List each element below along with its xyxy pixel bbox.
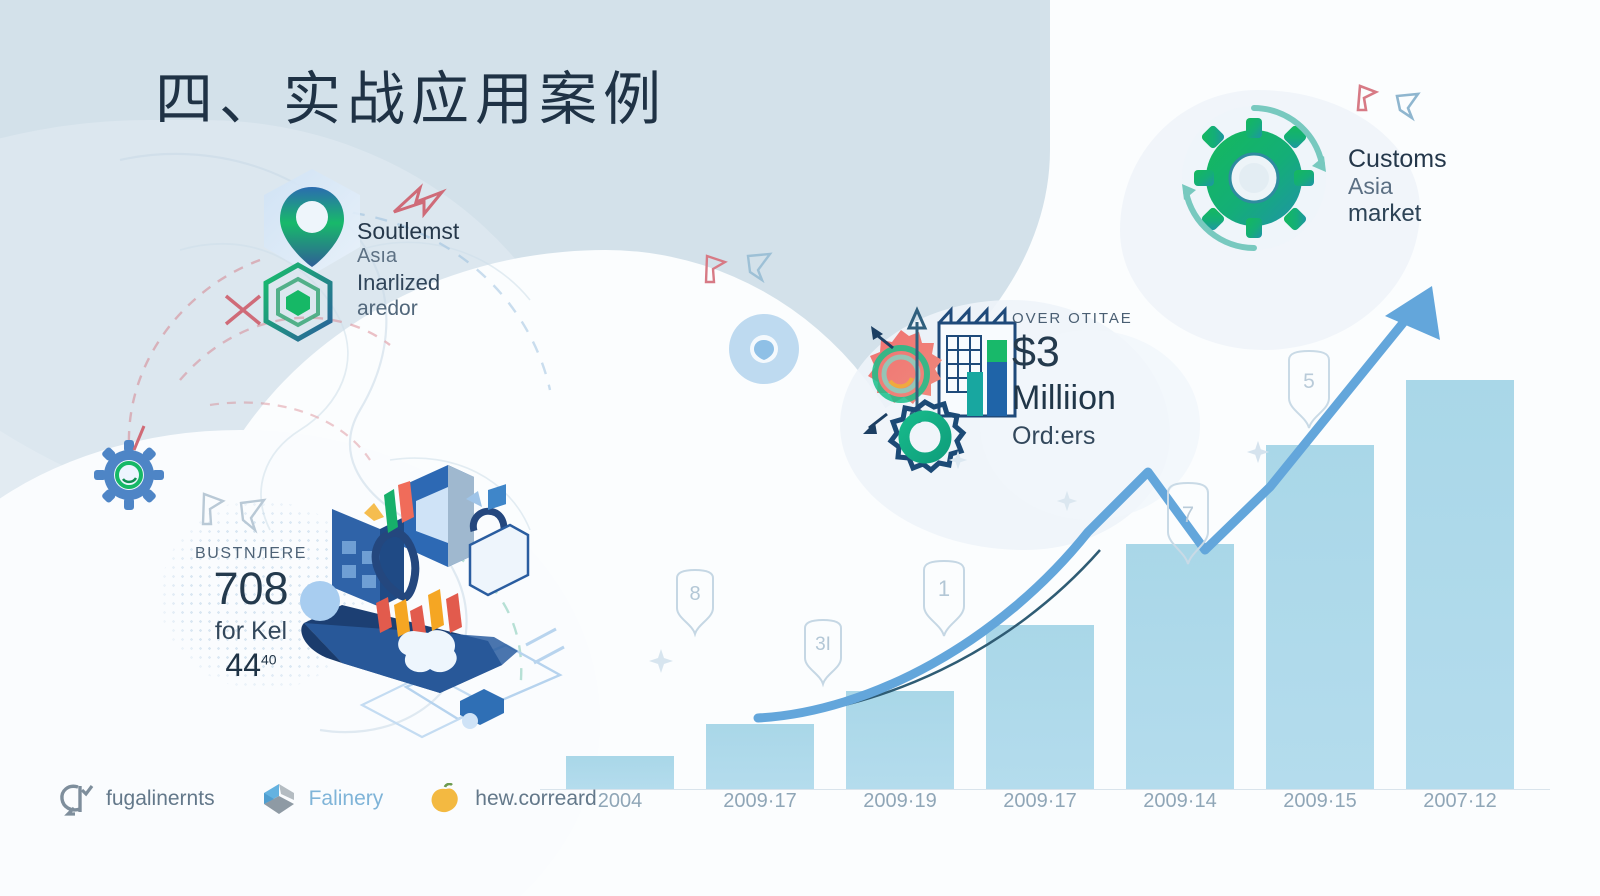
flag-marker-icon [196, 488, 230, 528]
svg-text:1: 1 [938, 576, 950, 601]
flag-marker-icon [742, 248, 776, 284]
stat-caption: BUSTNЛERE [186, 545, 316, 563]
footer-logo-label: Falinery [309, 787, 384, 811]
footer-logo-2[interactable]: Falinery [261, 782, 384, 816]
chart-pin-7: 7 [1158, 480, 1218, 568]
flag-marker-icon [700, 250, 732, 286]
svg-text:7: 7 [1182, 502, 1194, 527]
chart-pin-1: 1 [914, 558, 974, 640]
chart-pin-3i: 3I [796, 618, 850, 688]
gear-icon [1174, 98, 1334, 258]
x-label-0: 2004 [598, 790, 643, 813]
flag-marker-icon [234, 494, 270, 534]
origami-house-icon [261, 782, 297, 816]
flag-marker-icon [1392, 88, 1426, 122]
chart-trend-line [540, 282, 1550, 792]
footer-logo-label: hew.correard [475, 787, 596, 811]
stat-value: 708 [186, 563, 316, 615]
pumpkin-icon [429, 783, 463, 815]
chart-x-axis-labels: 2004 2009·17 2009·19 2009·17 2009·14 200… [540, 790, 1550, 820]
x-label-2: 2009·19 [863, 790, 936, 813]
x-label-5: 2009·15 [1283, 790, 1356, 813]
tick-marker-icon [128, 424, 150, 454]
x-label-6: 2007·12 [1423, 790, 1496, 813]
stat-small: 44 [225, 647, 261, 683]
x-label-4: 2009·14 [1143, 790, 1216, 813]
flag-marker-icon [1352, 80, 1382, 114]
infographic-canvas: 四、实战应用案例 Soutlemst Asıa Inarlized aredor… [0, 0, 1600, 896]
footer-logo-1[interactable]: fugalinernts [58, 782, 215, 816]
chart-pin-5: 5 [1280, 348, 1338, 432]
chart-pin-8: 8 [668, 568, 722, 638]
footer-logo-3[interactable]: hew.correard [429, 783, 596, 815]
svg-text:5: 5 [1303, 370, 1315, 393]
label-line-2: Asia [1348, 173, 1447, 200]
scan-check-icon [58, 782, 94, 816]
label-line-2: Asıa [357, 244, 459, 269]
label-line-4: aredor [357, 296, 459, 322]
stat-small-sup: 40 [261, 651, 277, 667]
page-title: 四、实战应用案例 [155, 52, 667, 136]
sparkle-icon [948, 450, 968, 470]
cargo-ship-illustration [288, 455, 568, 745]
footer-logo-row: fugalinernts Falinery hew.correard [58, 782, 597, 816]
label-line-1: Customs [1348, 146, 1447, 173]
label-southeast-asia: Soutlemst Asıa Inarlized aredor [357, 218, 459, 322]
stat-sub: for Kel [186, 615, 316, 647]
svg-text:3I: 3I [815, 634, 831, 655]
hexagon-node-icon [258, 262, 338, 342]
label-line-3: market [1348, 200, 1447, 228]
label-line-1: Soutlemst [357, 218, 459, 244]
sparkle-icon [1246, 440, 1270, 464]
x-label-1: 2009·17 [723, 790, 796, 813]
stat-business: BUSTNЛERE 708 for Kel 4440 [186, 545, 316, 684]
svg-text:8: 8 [689, 583, 700, 605]
label-customs-asia-market: Customs Asia market [1348, 146, 1447, 228]
growth-bar-chart: 8 3I 1 7 5 [540, 300, 1550, 790]
stat-small-wrap: 4440 [186, 647, 316, 684]
x-label-3: 2009·17 [1003, 790, 1076, 813]
sparkle-icon [1056, 490, 1078, 512]
label-line-3: Inarlized [357, 269, 459, 296]
footer-logo-label: fugalinernts [106, 787, 215, 811]
sparkle-icon [648, 648, 674, 674]
